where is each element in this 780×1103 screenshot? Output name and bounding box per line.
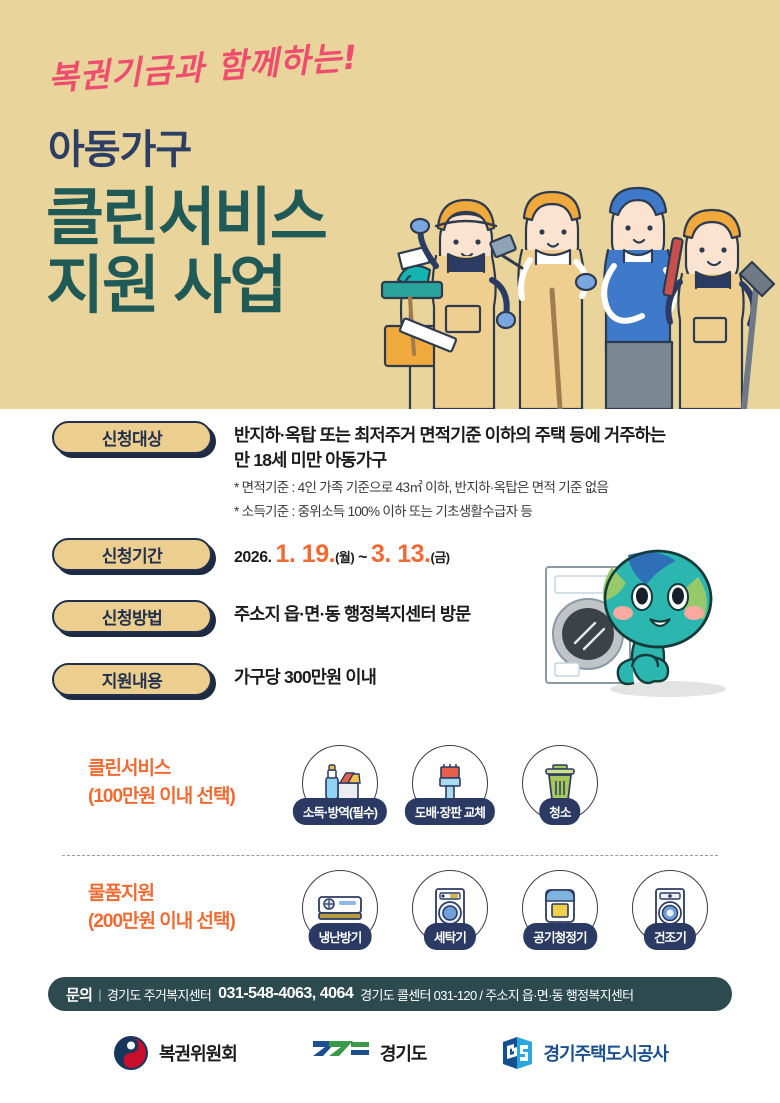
gyeonggi-province-icon — [311, 1036, 371, 1070]
label-application-period: 신청기간 — [52, 538, 212, 571]
caption-washer: 세탁기 — [424, 923, 476, 950]
caption-disinfection: 소독·방역(필수) — [293, 798, 387, 825]
section-divider — [62, 855, 718, 856]
period-tilde: ~ — [358, 549, 367, 566]
hero-section: 복권기금과 함께하는! 아동가구 클린서비스 지원 사업 — [0, 0, 780, 409]
caption-cleaning: 청소 — [539, 798, 580, 825]
caption-wallpaper: 도배·장판 교체 — [405, 798, 495, 825]
logo-label-gh: 경기주택도시공사 — [544, 1040, 668, 1066]
info-row-target: 신청대상 반지하·옥탑 또는 최저주거 면적기준 이하의 주택 등에 거주하는 … — [0, 421, 780, 523]
logo-gyeonggi-province: 경기도 — [311, 1036, 427, 1070]
goods-item-purifier[interactable]: 공기청정기 — [512, 870, 608, 946]
hero-title: 클린서비스 지원 사업 — [46, 184, 326, 320]
contact-separator: | — [98, 987, 101, 1002]
mascot-with-washing-machine — [528, 539, 758, 699]
label-application-target: 신청대상 — [52, 421, 212, 454]
label-application-method: 신청방법 — [52, 600, 212, 633]
goods-item-aircon[interactable]: 냉난방기 — [292, 870, 388, 946]
cleaning-workers-illustration — [380, 130, 780, 409]
support-content-text: 가구당 300만원 이내 — [234, 665, 376, 690]
application-target-text: 반지하·옥탑 또는 최저주거 면적기준 이하의 주택 등에 거주하는 만 18세… — [234, 423, 665, 474]
clean-service-icons: 소독·방역(필수) 도배·장판 교체 — [292, 745, 608, 821]
service-item-disinfection[interactable]: 소독·방역(필수) — [292, 745, 388, 821]
contact-org: 경기도 주거복지센터 — [107, 985, 211, 1004]
service-item-cleaning[interactable]: 청소 — [512, 745, 608, 821]
note-area-standard: * 면적기준 : 4인 가족 기준으로 43㎡ 이하, 반지하·옥탑은 면적 기… — [234, 477, 665, 499]
korea-government-taegeuk-icon — [112, 1034, 150, 1072]
logo-label-lottery: 복권위원회 — [159, 1040, 237, 1066]
service-item-wallpaper[interactable]: 도배·장판 교체 — [402, 745, 498, 821]
application-period-text: 2026. 1. 19.(월) ~ 3. 13.(금) — [234, 540, 450, 569]
caption-dryer: 건조기 — [644, 923, 696, 950]
logo-lottery-commission: 복권위원회 — [112, 1034, 237, 1072]
contact-extra: 경기도 콜센터 031-120 / 주소지 읍·면·동 행정복지센터 — [360, 985, 633, 1004]
period-year: 2026. — [234, 549, 272, 566]
caption-aircon: 냉난방기 — [309, 923, 372, 950]
note-income-standard: * 소득기준 : 중위소득 100% 이하 또는 기초생활수급자 등 — [234, 501, 665, 523]
period-end-day: (금) — [431, 550, 450, 565]
poster: 복권기금과 함께하는! 아동가구 클린서비스 지원 사업 — [0, 0, 780, 1103]
period-start-day: (월) — [335, 550, 354, 565]
application-method-text: 주소지 읍·면·동 행정복지센터 방문 — [234, 602, 470, 627]
contact-bar: 문의 | 경기도 주거복지센터 031-548-4063, 4064 경기도 콜… — [48, 977, 732, 1011]
goods-item-dryer[interactable]: 건조기 — [622, 870, 718, 946]
logo-gh-corporation: 경기주택도시공사 — [501, 1035, 668, 1071]
goods-support-heading: 물품지원 (200만원 이내 선택) — [88, 880, 235, 935]
clean-service-heading: 클린서비스 (100만원 이내 선택) — [88, 755, 235, 810]
period-end: 3. 13. — [371, 540, 431, 568]
logo-label-gyeonggi: 경기도 — [380, 1040, 427, 1066]
caption-purifier: 공기청정기 — [523, 923, 597, 950]
hero-script-line: 복권기금과 함께하는! — [46, 30, 359, 100]
contact-label: 문의 — [66, 984, 92, 1005]
goods-support-icons: 냉난방기 세탁기 — [292, 870, 718, 946]
logo-row: 복권위원회 경기도 경기주택도시공사 — [0, 1022, 780, 1084]
hero-subtitle: 아동가구 — [48, 130, 191, 170]
contact-phone[interactable]: 031-548-4063, 4064 — [218, 985, 353, 1003]
goods-item-washer[interactable]: 세탁기 — [402, 870, 498, 946]
period-start: 1. 19. — [276, 540, 336, 568]
label-support-content: 지원내용 — [52, 663, 212, 696]
gh-corporation-icon — [501, 1035, 535, 1071]
